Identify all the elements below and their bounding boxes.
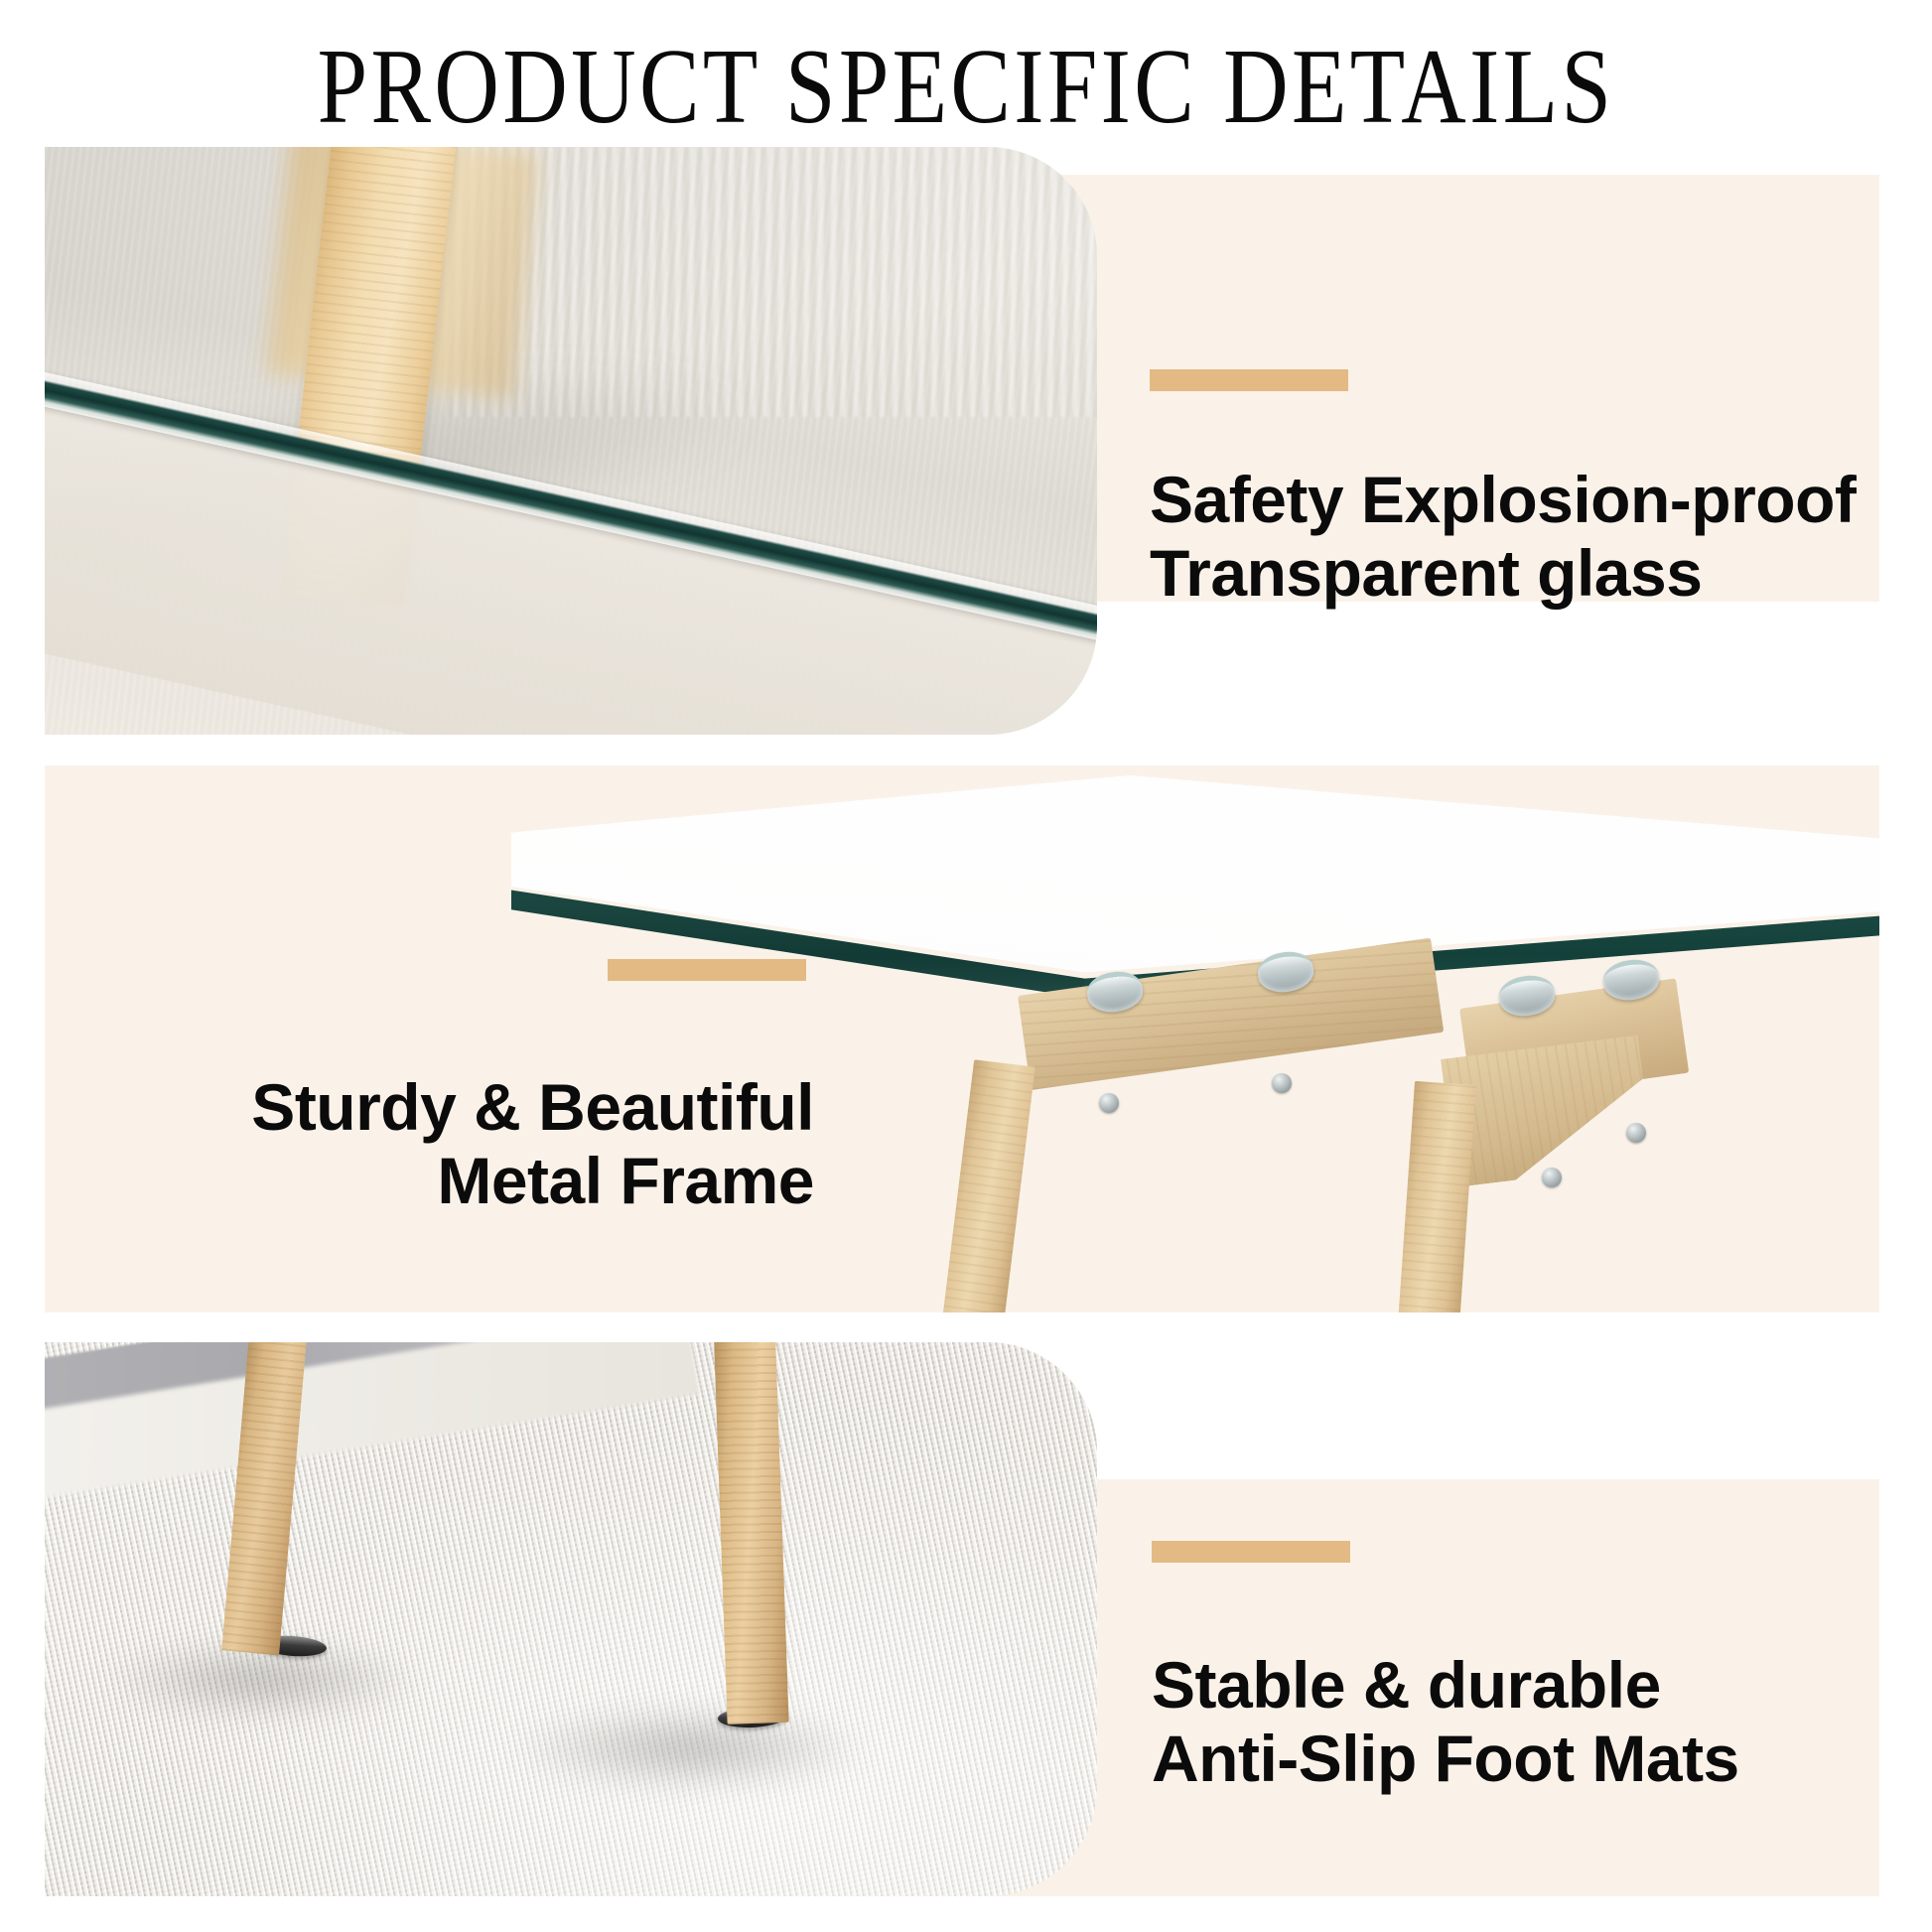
leg-shadow	[511, 1706, 869, 1791]
table-leg-left	[943, 1059, 1035, 1312]
feature-text-block-safety-glass: Safety Explosion-proof Transparent glass	[1150, 369, 1884, 610]
screw-icon	[1626, 1123, 1646, 1143]
accent-bar-icon	[608, 959, 806, 981]
accent-bar-icon	[1152, 1541, 1350, 1563]
feature-image-anti-slip-mats	[45, 1342, 1097, 1896]
screw-icon	[1099, 1093, 1119, 1113]
feature-text-block-anti-slip-mats: Stable & durable Anti-Slip Foot Mats	[1152, 1541, 1886, 1795]
screw-icon	[1272, 1073, 1292, 1093]
table-leg-front-right	[714, 1342, 789, 1725]
table-leg-right	[1398, 1081, 1476, 1312]
feature-heading-safety-glass: Safety Explosion-proof Transparent glass	[1150, 463, 1884, 610]
page-title: PRODUCT SPECIFIC DETAILS	[155, 34, 1778, 141]
accent-bar-icon	[1150, 369, 1348, 391]
product-details-infographic: PRODUCT SPECIFIC DETAILS Safety Explosio…	[0, 0, 1932, 1932]
screw-icon	[1542, 1168, 1562, 1187]
feature-image-safety-glass	[45, 147, 1097, 735]
feature-text-block-metal-frame: Sturdy & Beautiful Metal Frame	[159, 959, 814, 1217]
feature-heading-anti-slip-mats: Stable & durable Anti-Slip Foot Mats	[1152, 1648, 1886, 1795]
feature-heading-metal-frame: Sturdy & Beautiful Metal Frame	[159, 1070, 814, 1217]
